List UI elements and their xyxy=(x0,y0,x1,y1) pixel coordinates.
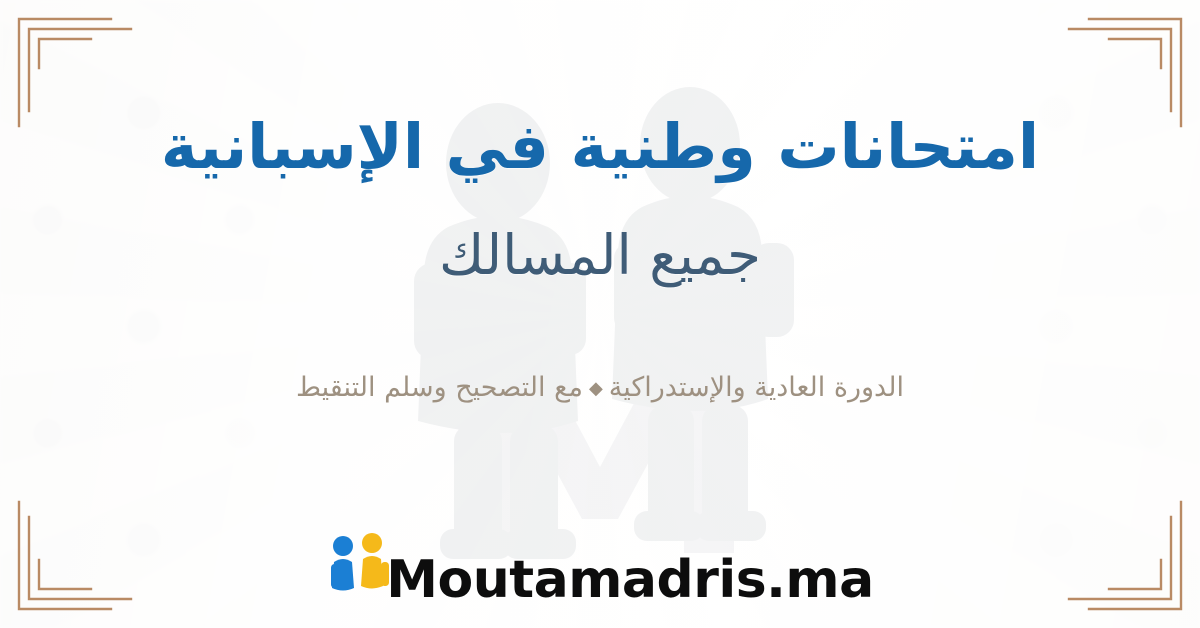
poster-canvas: امتحانات وطنية في الإسبانية جميع المسالك… xyxy=(0,0,1200,628)
brand-name: Moutamadris.ma xyxy=(386,554,873,606)
tagline-right-text: مع التصحيح وسلم التنقيط xyxy=(296,372,583,403)
brand-lockup[interactable]: Moutamadris.ma xyxy=(0,530,1200,606)
page-title: امتحانات وطنية في الإسبانية xyxy=(161,112,1039,181)
tagline-left-text: الدورة العادية والإستدراكية xyxy=(609,372,904,403)
page-subtitle: جميع المسالك xyxy=(439,225,761,286)
diamond-separator-icon: ◆ xyxy=(583,378,609,399)
two-students-logo-icon xyxy=(326,530,400,604)
tagline: الدورة العادية والإستدراكية◆مع التصحيح و… xyxy=(296,372,904,404)
